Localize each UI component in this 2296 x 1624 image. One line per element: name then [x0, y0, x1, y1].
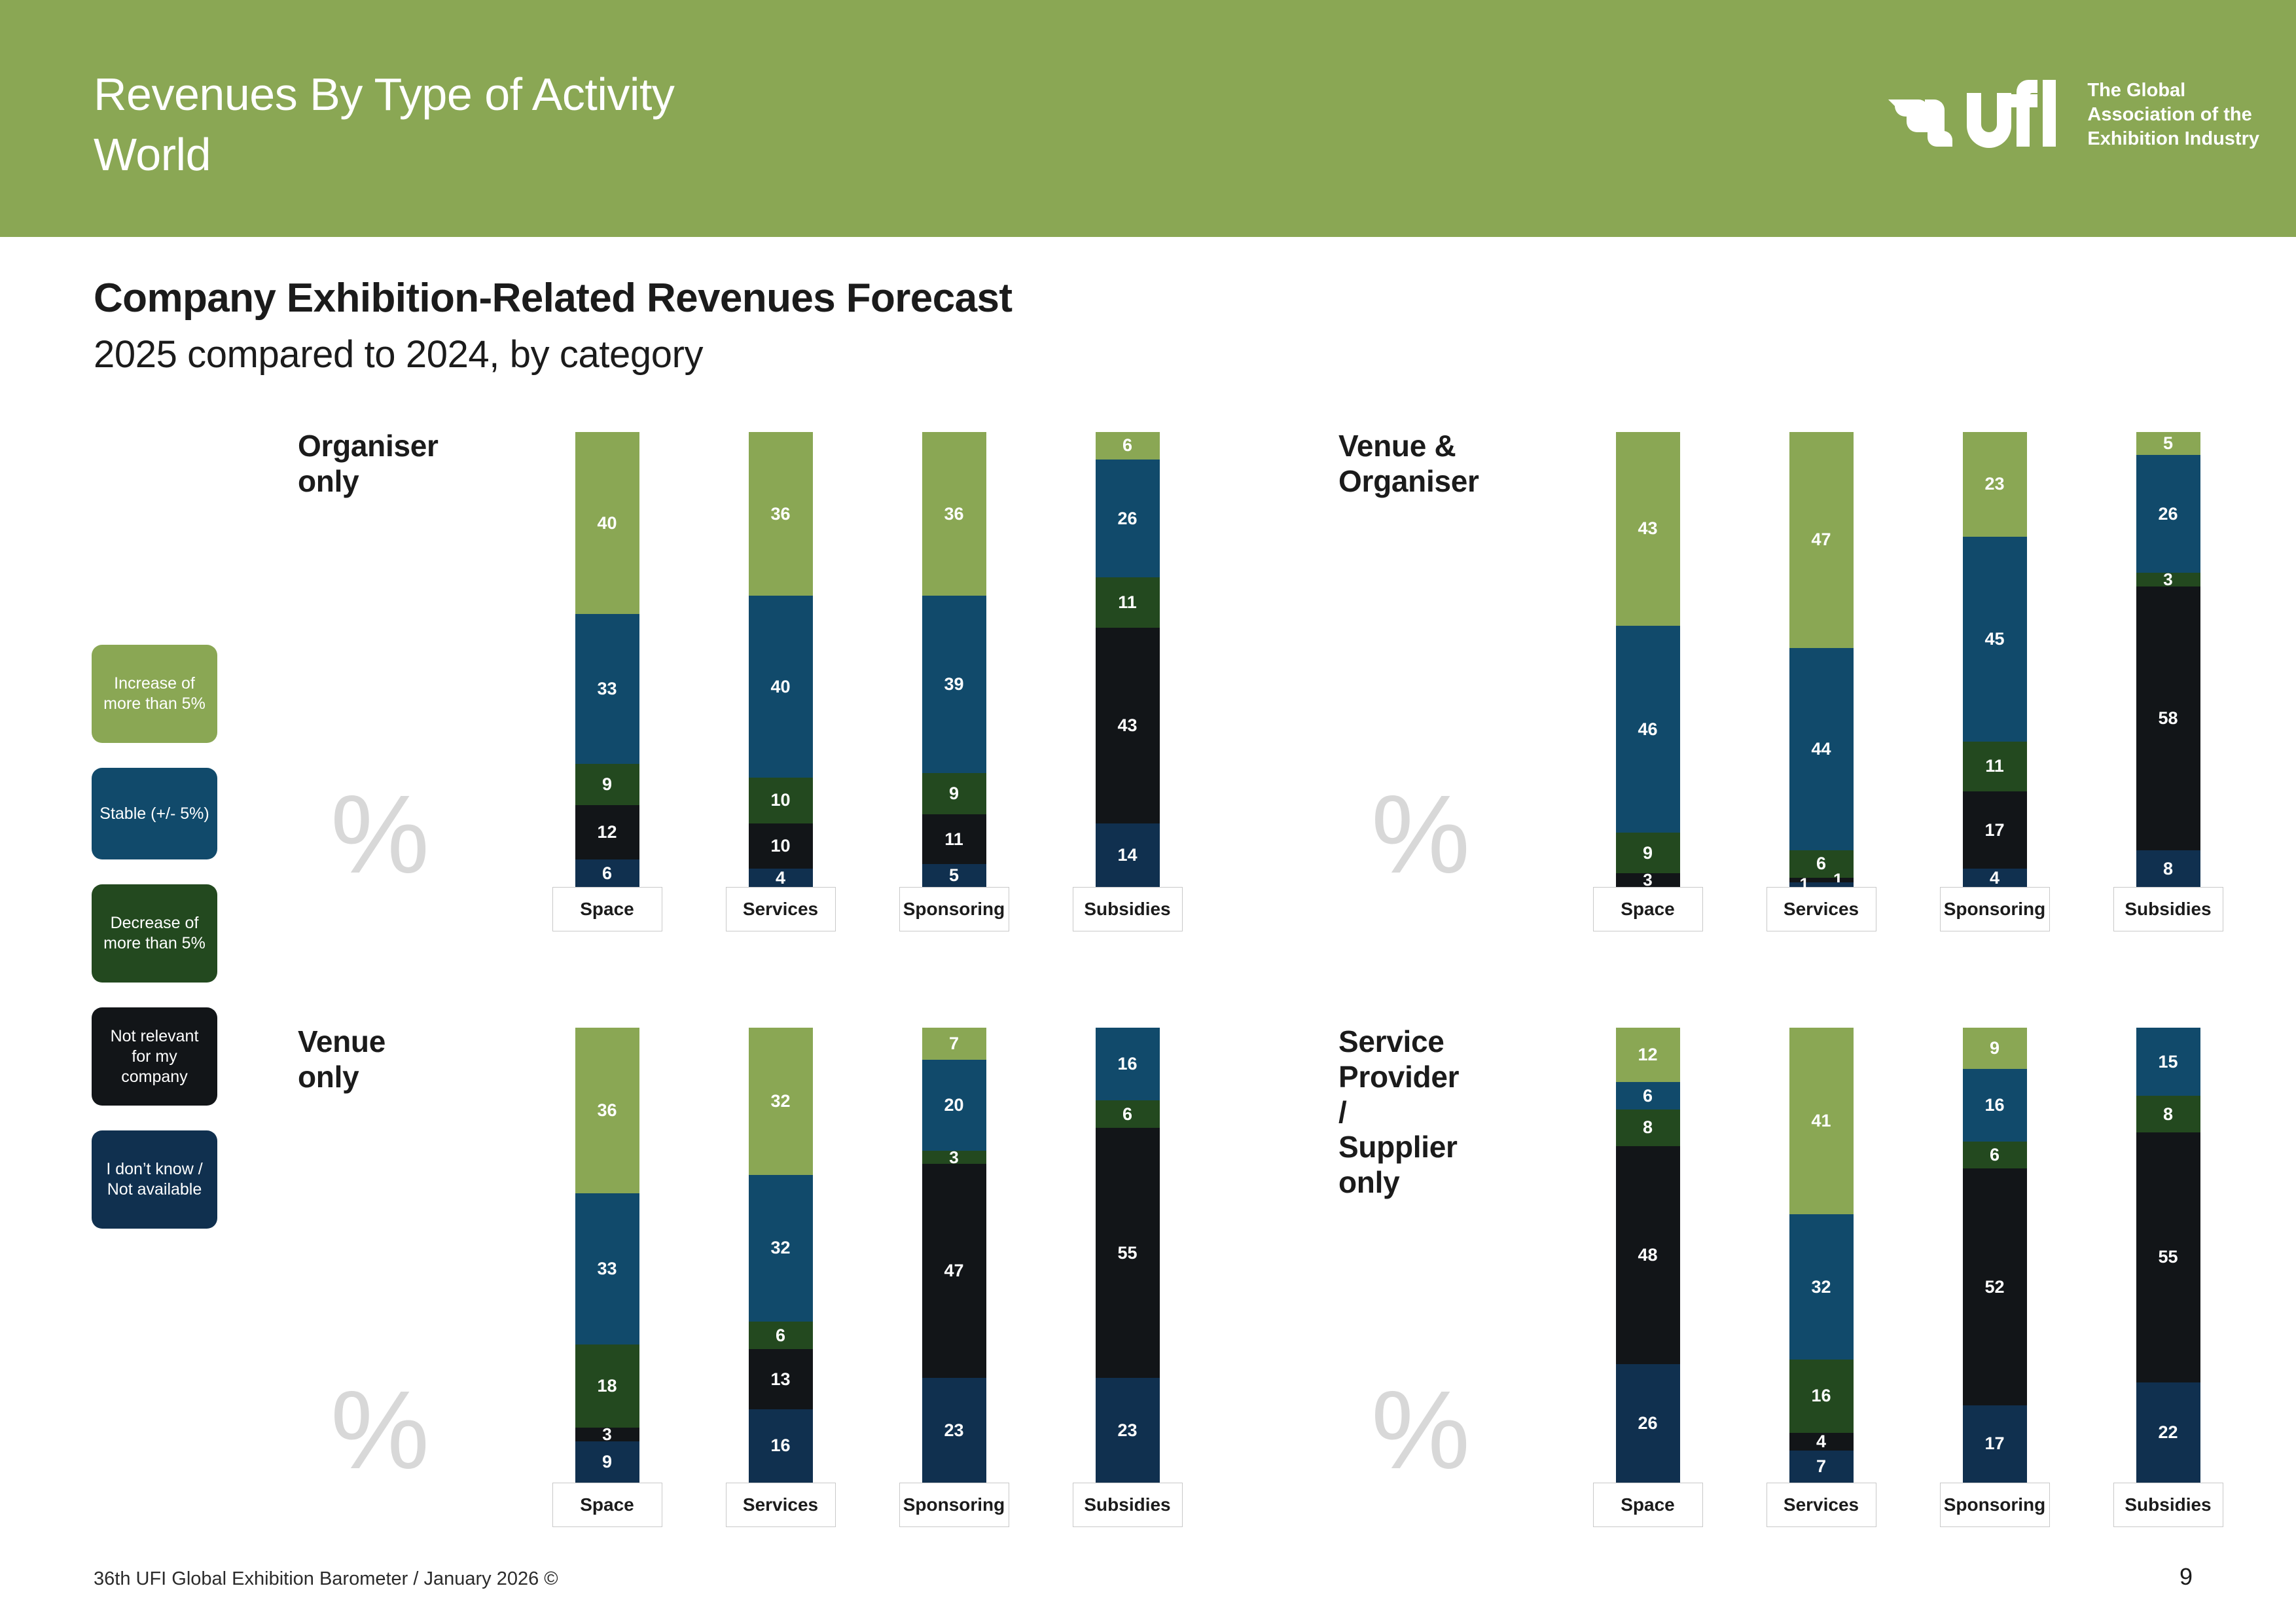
- segment-value: 43: [1117, 715, 1137, 736]
- segment-value: 12: [597, 822, 617, 842]
- segment-value: 3: [1643, 870, 1652, 890]
- bar-segment-2: 9: [922, 773, 986, 814]
- bar-column-space: 40339126Space: [520, 432, 694, 931]
- segment-value: 22: [2158, 1422, 2178, 1443]
- stacked-bar: 36331839: [575, 1028, 639, 1483]
- ufi-logo-tagline: The Global Association of the Exhibition…: [2087, 79, 2259, 151]
- bar-category-label-services: Services: [726, 887, 836, 931]
- bar-segment-0: 23: [1963, 432, 2027, 537]
- page-number: 9: [2179, 1563, 2193, 1591]
- segment-value: 33: [597, 1259, 617, 1279]
- bar-segment-4: 16: [749, 1409, 813, 1483]
- segment-value: 6: [776, 1326, 785, 1346]
- bar-segment-4: 23: [922, 1378, 986, 1483]
- segment-value: 8: [2163, 1104, 2173, 1125]
- bar-category-label-subsidies: Subsidies: [2113, 1483, 2223, 1527]
- stacked-bar: 12684826: [1616, 1028, 1680, 1483]
- stacked-bar: 626114314: [1096, 432, 1160, 887]
- segment-value: 16: [1984, 1095, 2004, 1115]
- bar-column-services: 4744611Services: [1734, 432, 1908, 931]
- segment-value: 33: [597, 679, 617, 699]
- bar-category-label-sponsoring: Sponsoring: [1940, 887, 2050, 931]
- bar-segment-3: 58: [2136, 586, 2200, 850]
- bar-segment-0: 36: [575, 1028, 639, 1193]
- bar-segment-4: 14: [1096, 823, 1160, 887]
- panel-title-venue-only: Venue only: [298, 1024, 386, 1095]
- bar-segment-2: 3: [2136, 573, 2200, 586]
- stacked-bar: 40339126: [575, 432, 639, 887]
- segment-value: 44: [1811, 739, 1831, 759]
- bar-segment-1: 26: [1096, 460, 1160, 578]
- bar-segment-3: 43: [1096, 628, 1160, 823]
- segment-value: 11: [1118, 592, 1137, 613]
- stacked-bar: 91665217: [1963, 1028, 2027, 1483]
- legend-label: I don’t know / Not available: [99, 1159, 209, 1200]
- bar-segment-4: 4: [1963, 869, 2027, 887]
- bar-group-venue-organiser: 434693Space4744611Services234511174Spons…: [1561, 432, 2255, 931]
- segment-value: 43: [1638, 518, 1657, 539]
- bar-segment-1: 33: [575, 614, 639, 764]
- bar-segment-0: 40: [575, 432, 639, 614]
- header-title: Revenues By Type of Activity: [94, 69, 674, 120]
- bar-segment-3: 55: [2136, 1132, 2200, 1382]
- bar-segment-2: 16: [1789, 1360, 1854, 1432]
- bar-segment-3: 48: [1616, 1146, 1680, 1365]
- segment-value: 17: [1984, 820, 2004, 840]
- bar-column-sponsoring: 91665217Sponsoring: [1908, 1028, 2081, 1527]
- segment-value: 9: [949, 784, 959, 804]
- bar-column-sponsoring: 72034723Sponsoring: [867, 1028, 1041, 1527]
- segment-value: 36: [770, 504, 790, 524]
- segment-value: 26: [1117, 509, 1137, 529]
- bar-segment-3: 3: [1616, 873, 1680, 887]
- segment-value: 18: [597, 1376, 617, 1396]
- bar-segment-4: 1: [1789, 882, 1854, 887]
- bar-segment-1: 16: [1096, 1028, 1160, 1100]
- page-title: Company Exhibition-Related Revenues Fore…: [94, 275, 1012, 321]
- segment-value: 46: [1638, 719, 1657, 740]
- bar-column-subsidies: 626114314Subsidies: [1041, 432, 1214, 931]
- bar-category-label-space: Space: [1593, 887, 1703, 931]
- segment-value: 23: [1984, 474, 2004, 494]
- stacked-bar: 323261316: [749, 1028, 813, 1483]
- bar-segment-0: 9: [1963, 1028, 2027, 1069]
- legend-label: Not relevant for my company: [99, 1026, 209, 1087]
- bar-segment-0: 6: [1096, 432, 1160, 460]
- panel-title-service-provider-supplier-only: Service Provider / Supplier only: [1338, 1024, 1459, 1200]
- ufi-logo-mark: [1887, 80, 2070, 151]
- segment-value: 11: [944, 829, 963, 850]
- segment-value: 16: [1811, 1386, 1831, 1406]
- segment-value: 11: [1985, 756, 2004, 776]
- ufi-logo: The Global Association of the Exhibition…: [1887, 79, 2259, 151]
- legend-item-stable: Stable (+/- 5%): [92, 768, 217, 859]
- legend-item-not-relevant: Not relevant for my company: [92, 1007, 217, 1106]
- bar-column-space: 434693Space: [1561, 432, 1734, 931]
- segment-value: 40: [770, 677, 790, 697]
- segment-value: 5: [2163, 433, 2173, 454]
- bar-column-sponsoring: 36399115Sponsoring: [867, 432, 1041, 931]
- segment-value: 6: [1643, 1086, 1653, 1106]
- bar-group-venue-only: 36331839Space323261316Services72034723Sp…: [520, 1028, 1214, 1527]
- bar-segment-4: 22: [2136, 1382, 2200, 1483]
- bar-column-subsidies: 1585522Subsidies: [2081, 1028, 2255, 1527]
- segment-value: 6: [1122, 435, 1132, 456]
- bar-segment-0: 43: [1616, 432, 1680, 626]
- segment-value: 55: [1117, 1243, 1137, 1263]
- segment-value: 9: [1643, 843, 1653, 863]
- stacked-bar: 41321647: [1789, 1028, 1854, 1483]
- bar-segment-0: 47: [1789, 432, 1854, 648]
- bar-segment-4: 4: [749, 869, 813, 887]
- bar-segment-2: 3: [922, 1151, 986, 1164]
- segment-value: 14: [1117, 845, 1137, 865]
- bar-segment-4: 5: [922, 864, 986, 887]
- segment-value: 6: [1122, 1104, 1132, 1125]
- bar-category-label-sponsoring: Sponsoring: [899, 1483, 1009, 1527]
- percent-watermark: %: [331, 779, 429, 890]
- bar-segment-2: 9: [575, 764, 639, 805]
- bar-segment-2: 18: [575, 1344, 639, 1427]
- segment-value: 4: [1816, 1432, 1826, 1452]
- bar-segment-1: 33: [575, 1193, 639, 1345]
- bar-segment-4: 23: [1096, 1378, 1160, 1483]
- bar-segment-2: 11: [1096, 577, 1160, 627]
- segment-value: 8: [1643, 1117, 1653, 1138]
- bar-segment-2: 6: [1963, 1142, 2027, 1169]
- segment-value: 52: [1984, 1277, 2004, 1297]
- stacked-bar: 234511174: [1963, 432, 2027, 887]
- bar-segment-1: 46: [1616, 626, 1680, 833]
- bar-category-label-services: Services: [1767, 887, 1876, 931]
- bar-category-label-services: Services: [1767, 1483, 1876, 1527]
- bar-segment-2: 8: [1616, 1110, 1680, 1146]
- segment-value: 7: [949, 1034, 959, 1054]
- bar-segment-2: 9: [1616, 833, 1680, 873]
- bar-category-label-space: Space: [1593, 1483, 1703, 1527]
- legend: Increase of more than 5% Stable (+/- 5%)…: [92, 645, 217, 1254]
- legend-label: Stable (+/- 5%): [99, 804, 209, 824]
- segment-value: 20: [944, 1095, 963, 1115]
- segment-value: 12: [1638, 1045, 1657, 1065]
- segment-value: 32: [770, 1238, 790, 1258]
- bar-column-space: 12684826Space: [1561, 1028, 1734, 1527]
- segment-value: 16: [770, 1435, 790, 1456]
- segment-value: 5: [949, 865, 959, 886]
- bar-segment-3: 1: [1789, 878, 1854, 882]
- bar-segment-3: 47: [922, 1164, 986, 1378]
- bar-segment-2: 10: [749, 778, 813, 823]
- panel-title-organiser-only: Organiser only: [298, 429, 439, 499]
- bar-segment-3: 55: [1096, 1128, 1160, 1378]
- header-subtitle-world: World: [94, 129, 211, 180]
- panel-title-venue-organiser: Venue & Organiser: [1338, 429, 1479, 499]
- segment-value: 1: [1833, 870, 1842, 890]
- segment-value: 1: [1800, 875, 1809, 895]
- segment-value: 23: [1117, 1420, 1137, 1441]
- segment-value: 39: [944, 674, 963, 695]
- bar-segment-3: 13: [749, 1349, 813, 1409]
- bar-group-service-provider-supplier-only: 12684826Space41321647Services91665217Spo…: [1561, 1028, 2255, 1527]
- segment-value: 13: [770, 1369, 790, 1390]
- segment-value: 9: [602, 1452, 612, 1472]
- bar-segment-0: 12: [1616, 1028, 1680, 1082]
- segment-value: 4: [776, 868, 785, 888]
- bar-segment-1: 32: [749, 1175, 813, 1322]
- bar-segment-1: 20: [922, 1060, 986, 1151]
- bar-segment-3: 17: [1963, 791, 2027, 869]
- bar-segment-0: 36: [922, 432, 986, 596]
- bar-segment-4: 26: [1616, 1364, 1680, 1483]
- bar-column-subsidies: 5263588Subsidies: [2081, 432, 2255, 931]
- segment-value: 10: [770, 790, 790, 810]
- segment-value: 36: [944, 504, 963, 524]
- bar-column-space: 36331839Space: [520, 1028, 694, 1527]
- segment-value: 16: [1117, 1054, 1137, 1074]
- segment-value: 32: [770, 1091, 790, 1111]
- segment-value: 40: [597, 513, 617, 533]
- bar-category-label-subsidies: Subsidies: [1073, 1483, 1183, 1527]
- stacked-bar: 1585522: [2136, 1028, 2200, 1483]
- bar-category-label-sponsoring: Sponsoring: [899, 887, 1009, 931]
- stacked-bar: 364010104: [749, 432, 813, 887]
- stacked-bar: 72034723: [922, 1028, 986, 1483]
- bar-column-services: 364010104Services: [694, 432, 867, 931]
- stacked-bar: 36399115: [922, 432, 986, 887]
- segment-value: 9: [1990, 1038, 2000, 1058]
- segment-value: 7: [1816, 1456, 1826, 1477]
- bar-segment-3: 11: [922, 814, 986, 864]
- segment-value: 47: [1811, 530, 1831, 550]
- bar-segment-2: 6: [749, 1322, 813, 1349]
- bar-segment-2: 11: [1963, 742, 2027, 791]
- bar-segment-3: 12: [575, 805, 639, 859]
- bar-category-label-space: Space: [552, 887, 662, 931]
- segment-value: 58: [2158, 708, 2178, 729]
- bar-segment-1: 40: [749, 596, 813, 778]
- page-subtitle: 2025 compared to 2024, by category: [94, 333, 703, 376]
- legend-label: Increase of more than 5%: [99, 674, 209, 714]
- segment-value: 6: [602, 863, 612, 884]
- segment-value: 26: [2158, 504, 2178, 524]
- segment-value: 32: [1811, 1277, 1831, 1297]
- bar-segment-2: 6: [1096, 1100, 1160, 1128]
- bar-segment-2: 8: [2136, 1096, 2200, 1132]
- segment-value: 48: [1638, 1245, 1657, 1265]
- bar-column-services: 41321647Services: [1734, 1028, 1908, 1527]
- segment-value: 10: [770, 836, 790, 856]
- stacked-bar: 1665523: [1096, 1028, 1160, 1483]
- bar-segment-0: 7: [922, 1028, 986, 1060]
- bar-segment-1: 32: [1789, 1214, 1854, 1360]
- segment-value: 47: [944, 1261, 963, 1281]
- bar-segment-2: 6: [1789, 850, 1854, 878]
- legend-item-decrease: Decrease of more than 5%: [92, 884, 217, 983]
- bar-segment-0: 41: [1789, 1028, 1854, 1214]
- bar-segment-4: 9: [575, 1441, 639, 1483]
- percent-watermark: %: [331, 1375, 429, 1486]
- bar-category-label-services: Services: [726, 1483, 836, 1527]
- bar-column-sponsoring: 234511174Sponsoring: [1908, 432, 2081, 931]
- bar-segment-0: 36: [749, 432, 813, 596]
- bar-segment-1: 16: [1963, 1069, 2027, 1142]
- bar-segment-4: 8: [2136, 850, 2200, 887]
- segment-value: 23: [944, 1420, 963, 1441]
- bar-category-label-sponsoring: Sponsoring: [1940, 1483, 2050, 1527]
- bar-column-services: 323261316Services: [694, 1028, 867, 1527]
- legend-item-dont-know: I don’t know / Not available: [92, 1130, 217, 1229]
- bar-segment-3: 10: [749, 823, 813, 869]
- segment-value: 6: [1816, 854, 1826, 874]
- segment-value: 26: [1638, 1413, 1657, 1434]
- segment-value: 6: [1990, 1145, 2000, 1165]
- segment-value: 55: [2158, 1247, 2178, 1267]
- segment-value: 4: [1990, 868, 2000, 888]
- bar-segment-1: 15: [2136, 1028, 2200, 1096]
- stacked-bar: 434693: [1616, 432, 1680, 887]
- segment-value: 36: [597, 1100, 617, 1121]
- bar-category-label-subsidies: Subsidies: [2113, 887, 2223, 931]
- bar-segment-3: 52: [1963, 1168, 2027, 1405]
- bar-segment-1: 44: [1789, 648, 1854, 850]
- segment-value: 15: [2158, 1052, 2178, 1072]
- percent-watermark: %: [1371, 779, 1470, 890]
- bar-category-label-space: Space: [552, 1483, 662, 1527]
- footer-source-note: 36th UFI Global Exhibition Barometer / J…: [94, 1568, 558, 1590]
- bar-group-organiser-only: 40339126Space364010104Services36399115Sp…: [520, 432, 1214, 931]
- bar-segment-3: 3: [575, 1428, 639, 1441]
- bar-column-subsidies: 1665523Subsidies: [1041, 1028, 1214, 1527]
- stacked-bar: 5263588: [2136, 432, 2200, 887]
- bar-segment-3: 4: [1789, 1433, 1854, 1451]
- bar-segment-1: 6: [1616, 1082, 1680, 1110]
- legend-label: Decrease of more than 5%: [99, 913, 209, 954]
- bar-segment-1: 26: [2136, 455, 2200, 573]
- bar-category-label-subsidies: Subsidies: [1073, 887, 1183, 931]
- bar-segment-4: 7: [1789, 1451, 1854, 1483]
- segment-value: 8: [2163, 859, 2173, 879]
- segment-value: 45: [1984, 629, 2004, 649]
- bar-segment-4: 17: [1963, 1405, 2027, 1483]
- bar-segment-4: 6: [575, 859, 639, 887]
- segment-value: 41: [1811, 1111, 1831, 1131]
- segment-value: 9: [602, 774, 612, 795]
- bar-segment-0: 32: [749, 1028, 813, 1175]
- percent-watermark: %: [1371, 1375, 1470, 1486]
- bar-segment-0: 5: [2136, 432, 2200, 455]
- legend-item-increase: Increase of more than 5%: [92, 645, 217, 743]
- bar-segment-1: 45: [1963, 537, 2027, 742]
- stacked-bar: 4744611: [1789, 432, 1854, 887]
- bar-segment-1: 39: [922, 596, 986, 773]
- segment-value: 17: [1984, 1434, 2004, 1454]
